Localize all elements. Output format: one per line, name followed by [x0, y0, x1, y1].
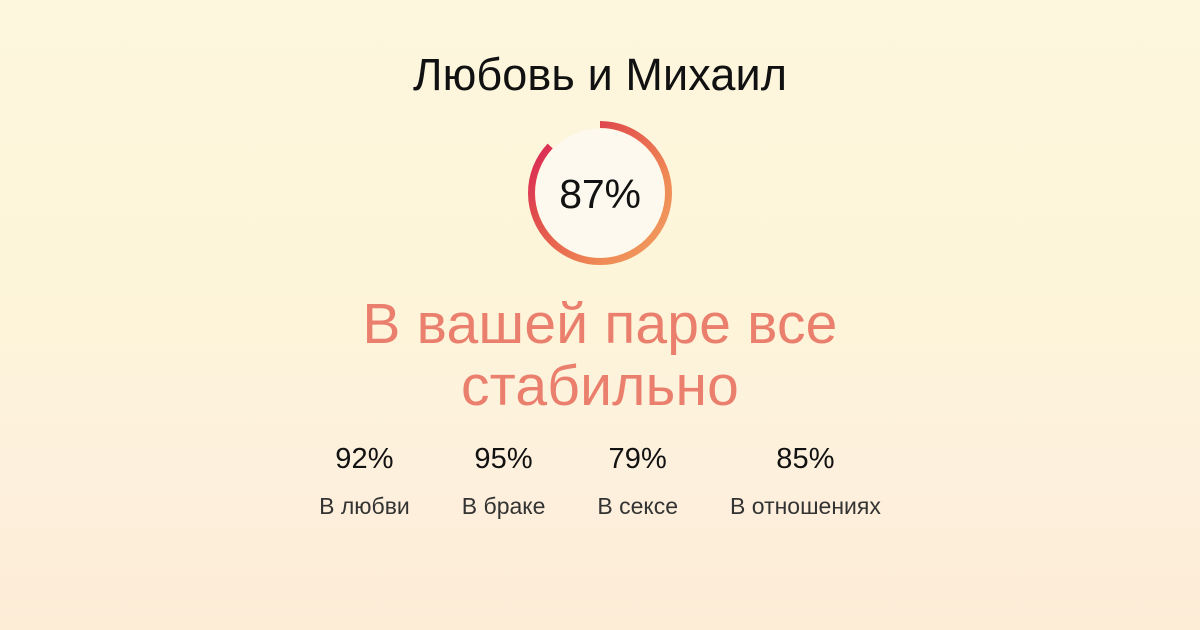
gauge-value-label: 87%: [559, 174, 640, 215]
stat-item-sex: 79% В сексе: [571, 443, 704, 519]
stat-value: 79%: [609, 443, 667, 476]
stat-value: 85%: [776, 443, 834, 476]
page-title: Любовь и Михаил: [413, 0, 787, 100]
verdict-text: В вашей паре все стабильно: [240, 268, 960, 417]
stat-item-relationship: 85% В отношениях: [704, 443, 907, 519]
stat-item-marriage: 95% В браке: [436, 443, 572, 519]
stats-row: 92% В любви 95% В браке 79% В сексе 85% …: [293, 417, 907, 519]
stat-value: 92%: [335, 443, 393, 476]
stat-label: В отношениях: [730, 493, 881, 519]
stat-label: В браке: [462, 493, 546, 519]
stat-label: В любви: [319, 493, 410, 519]
stat-value: 95%: [474, 443, 532, 476]
stat-item-love: 92% В любви: [293, 443, 436, 519]
compatibility-gauge: 87%: [525, 118, 675, 268]
compatibility-card: Любовь и Михаил 87% В вашей паре все ста…: [0, 0, 1200, 630]
stat-label: В сексе: [597, 493, 678, 519]
